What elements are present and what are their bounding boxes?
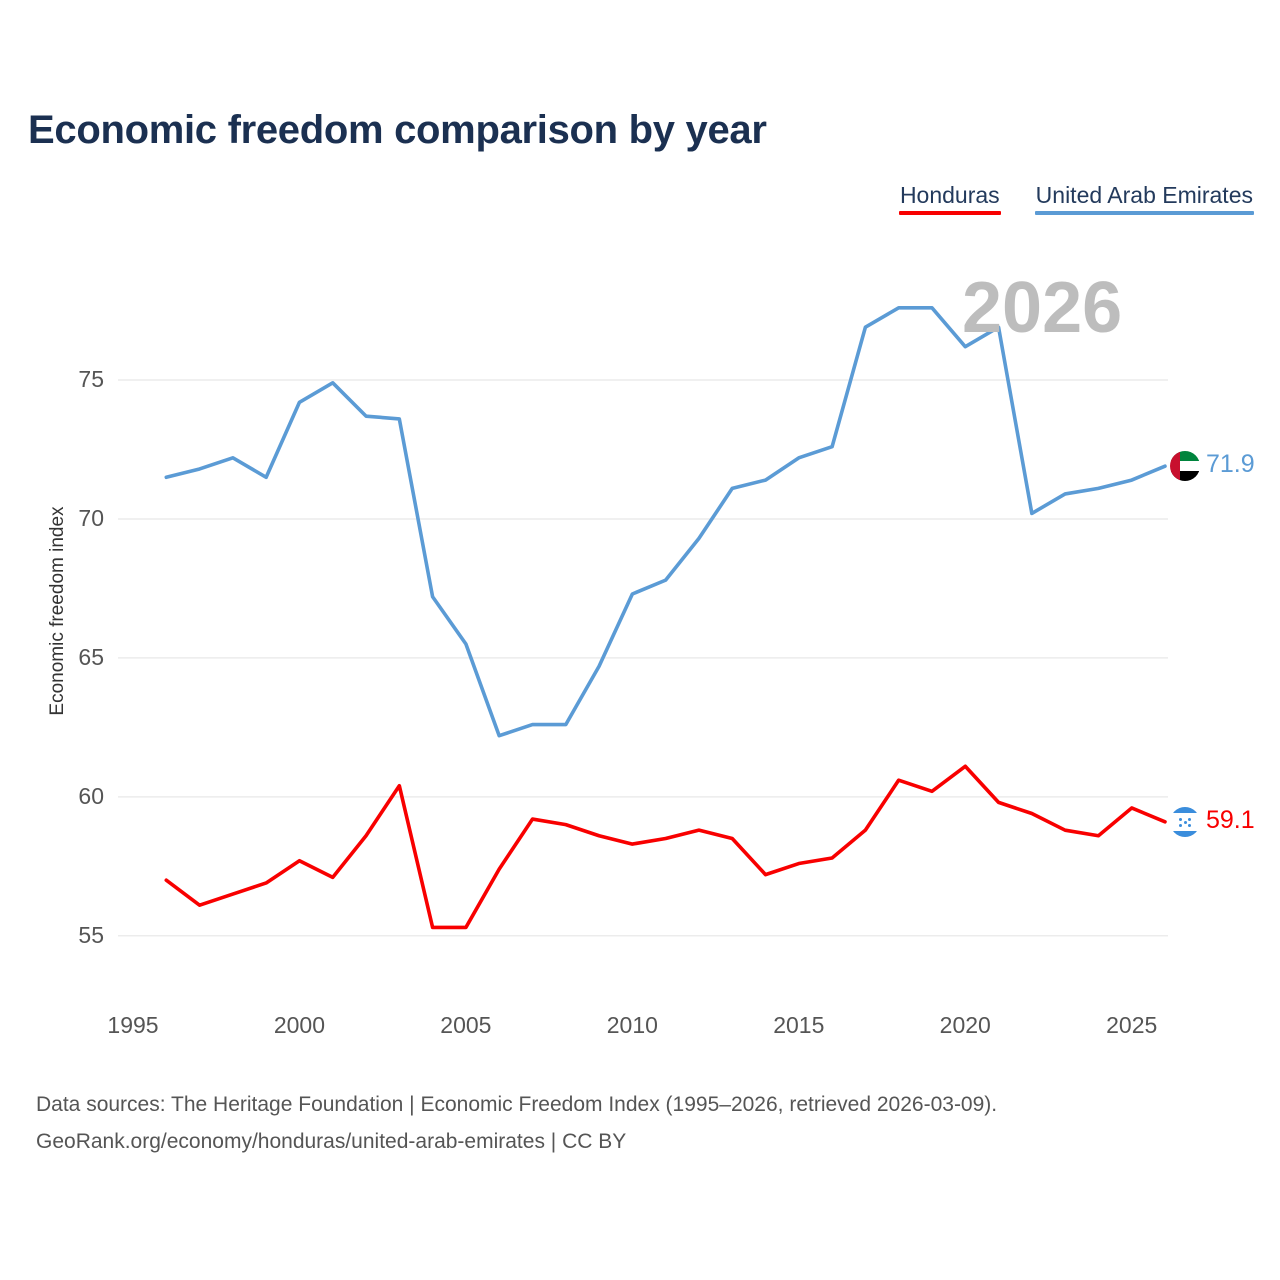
x-axis-tick-label: 2025 (1087, 1012, 1177, 1039)
uae-flag-red-hoist (1170, 451, 1180, 481)
honduras-flag-star (1188, 824, 1191, 827)
y-axis-tick-label: 65 (44, 644, 104, 671)
x-axis-tick-label: 2015 (754, 1012, 844, 1039)
x-axis-tick-label: 2020 (920, 1012, 1010, 1039)
honduras-flag-bottom-stripe (1170, 831, 1200, 837)
honduras-flag-star (1179, 818, 1182, 821)
uae-flag-icon (1170, 451, 1200, 481)
series-line-honduras (166, 766, 1165, 927)
honduras-flag-star (1184, 821, 1187, 824)
honduras-flag-star (1179, 824, 1182, 827)
footer-line-1: Data sources: The Heritage Foundation | … (36, 1086, 997, 1123)
y-axis-tick-label: 55 (44, 922, 104, 949)
y-axis-tick-label: 75 (44, 366, 104, 393)
honduras-flag-icon (1170, 807, 1200, 837)
footer-attribution: Data sources: The Heritage Foundation | … (36, 1086, 997, 1160)
chart-page: Economic freedom comparison by year Hond… (0, 0, 1280, 1280)
gridlines (118, 380, 1168, 936)
y-axis-tick-label: 60 (44, 783, 104, 810)
y-axis-tick-label: 70 (44, 505, 104, 532)
series-line-united-arab-emirates (166, 308, 1165, 736)
footer-line-2: GeoRank.org/economy/honduras/united-arab… (36, 1123, 997, 1160)
x-axis-tick-label: 2010 (587, 1012, 677, 1039)
end-value-honduras: 59.1 (1206, 806, 1255, 835)
watermark-year: 2026 (962, 272, 1122, 344)
honduras-flag-star (1188, 818, 1191, 821)
x-axis-tick-label: 1995 (88, 1012, 178, 1039)
end-value-united-arab-emirates: 71.9 (1206, 450, 1255, 479)
x-axis-tick-label: 2005 (421, 1012, 511, 1039)
x-axis-tick-label: 2000 (254, 1012, 344, 1039)
